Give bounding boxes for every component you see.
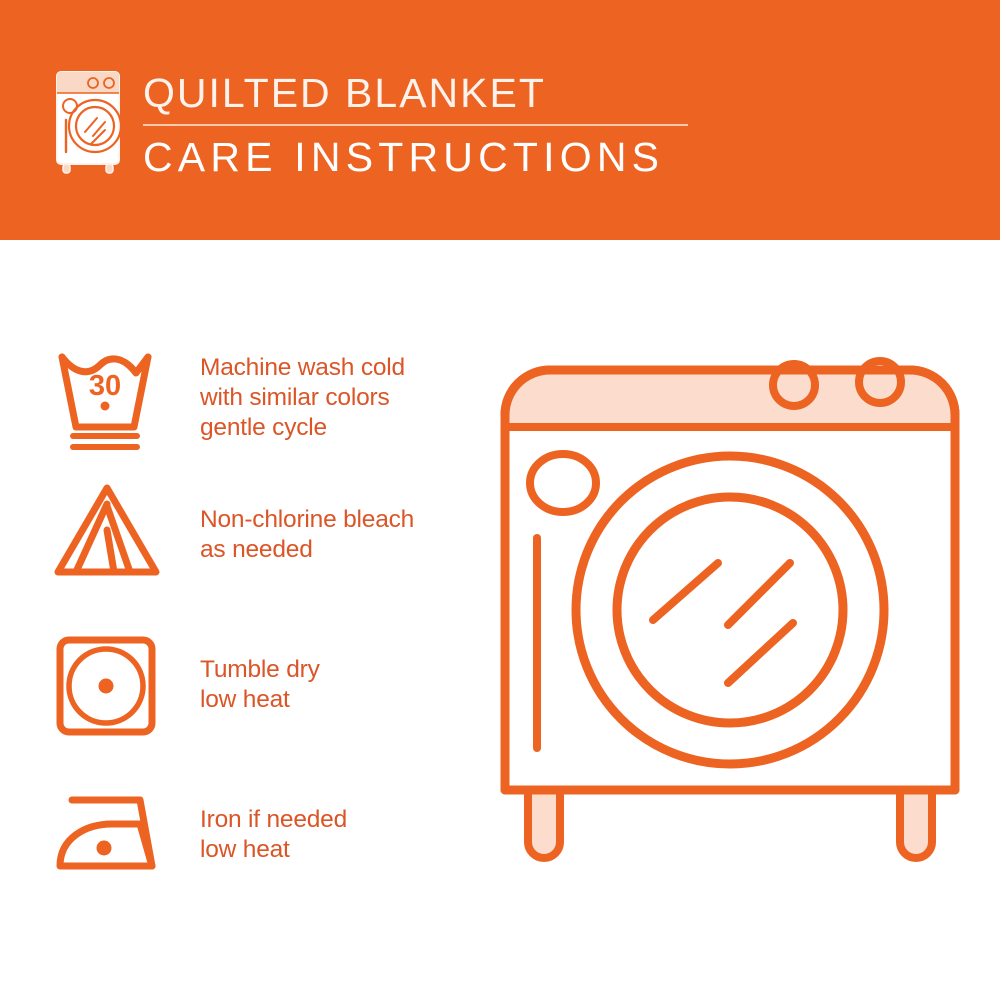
care-item-bleach: Non-chlorine bleach as needed [0, 480, 470, 630]
front-load-washing-machine-illustration [480, 320, 980, 940]
care-item-bleach-label: Non-chlorine bleach as needed [200, 505, 414, 565]
care-item-wash-label: Machine wash cold with similar colors ge… [200, 353, 405, 443]
machine-leg-left [528, 790, 560, 858]
page-title-secondary: CARE INSTRUCTIONS [143, 133, 688, 181]
non-chlorine-bleach-triangle-icon [52, 480, 172, 600]
care-item-tumble-dry-label: Tumble dry low heat [200, 655, 320, 715]
care-item-tumble-dry: Tumble dry low heat [0, 630, 470, 780]
care-symbol-list: 30 Machine wash cold with similar colors… [0, 240, 480, 1000]
care-item-iron: Iron if needed low heat [0, 780, 470, 930]
care-instructions-infographic: QUILTED BLANKET CARE INSTRUCTIONS 30 Mac… [0, 0, 1000, 1000]
header-banner: QUILTED BLANKET CARE INSTRUCTIONS [0, 0, 1000, 240]
title-divider [143, 124, 688, 126]
page-title-primary: QUILTED BLANKET [143, 70, 688, 116]
iron-low-heat-icon [52, 780, 172, 900]
header-title-block: QUILTED BLANKET CARE INSTRUCTIONS [143, 70, 688, 181]
care-item-iron-label: Iron if needed low heat [200, 805, 347, 865]
machine-leg-right [900, 790, 932, 858]
wash-temperature-value: 30 [89, 370, 121, 402]
wash-tub-30-gentle-icon: 30 [52, 345, 172, 465]
washing-machine-icon [45, 68, 127, 174]
tumble-dry-low-heat-icon [52, 630, 172, 750]
care-item-wash: 30 Machine wash cold with similar colors… [0, 345, 470, 495]
